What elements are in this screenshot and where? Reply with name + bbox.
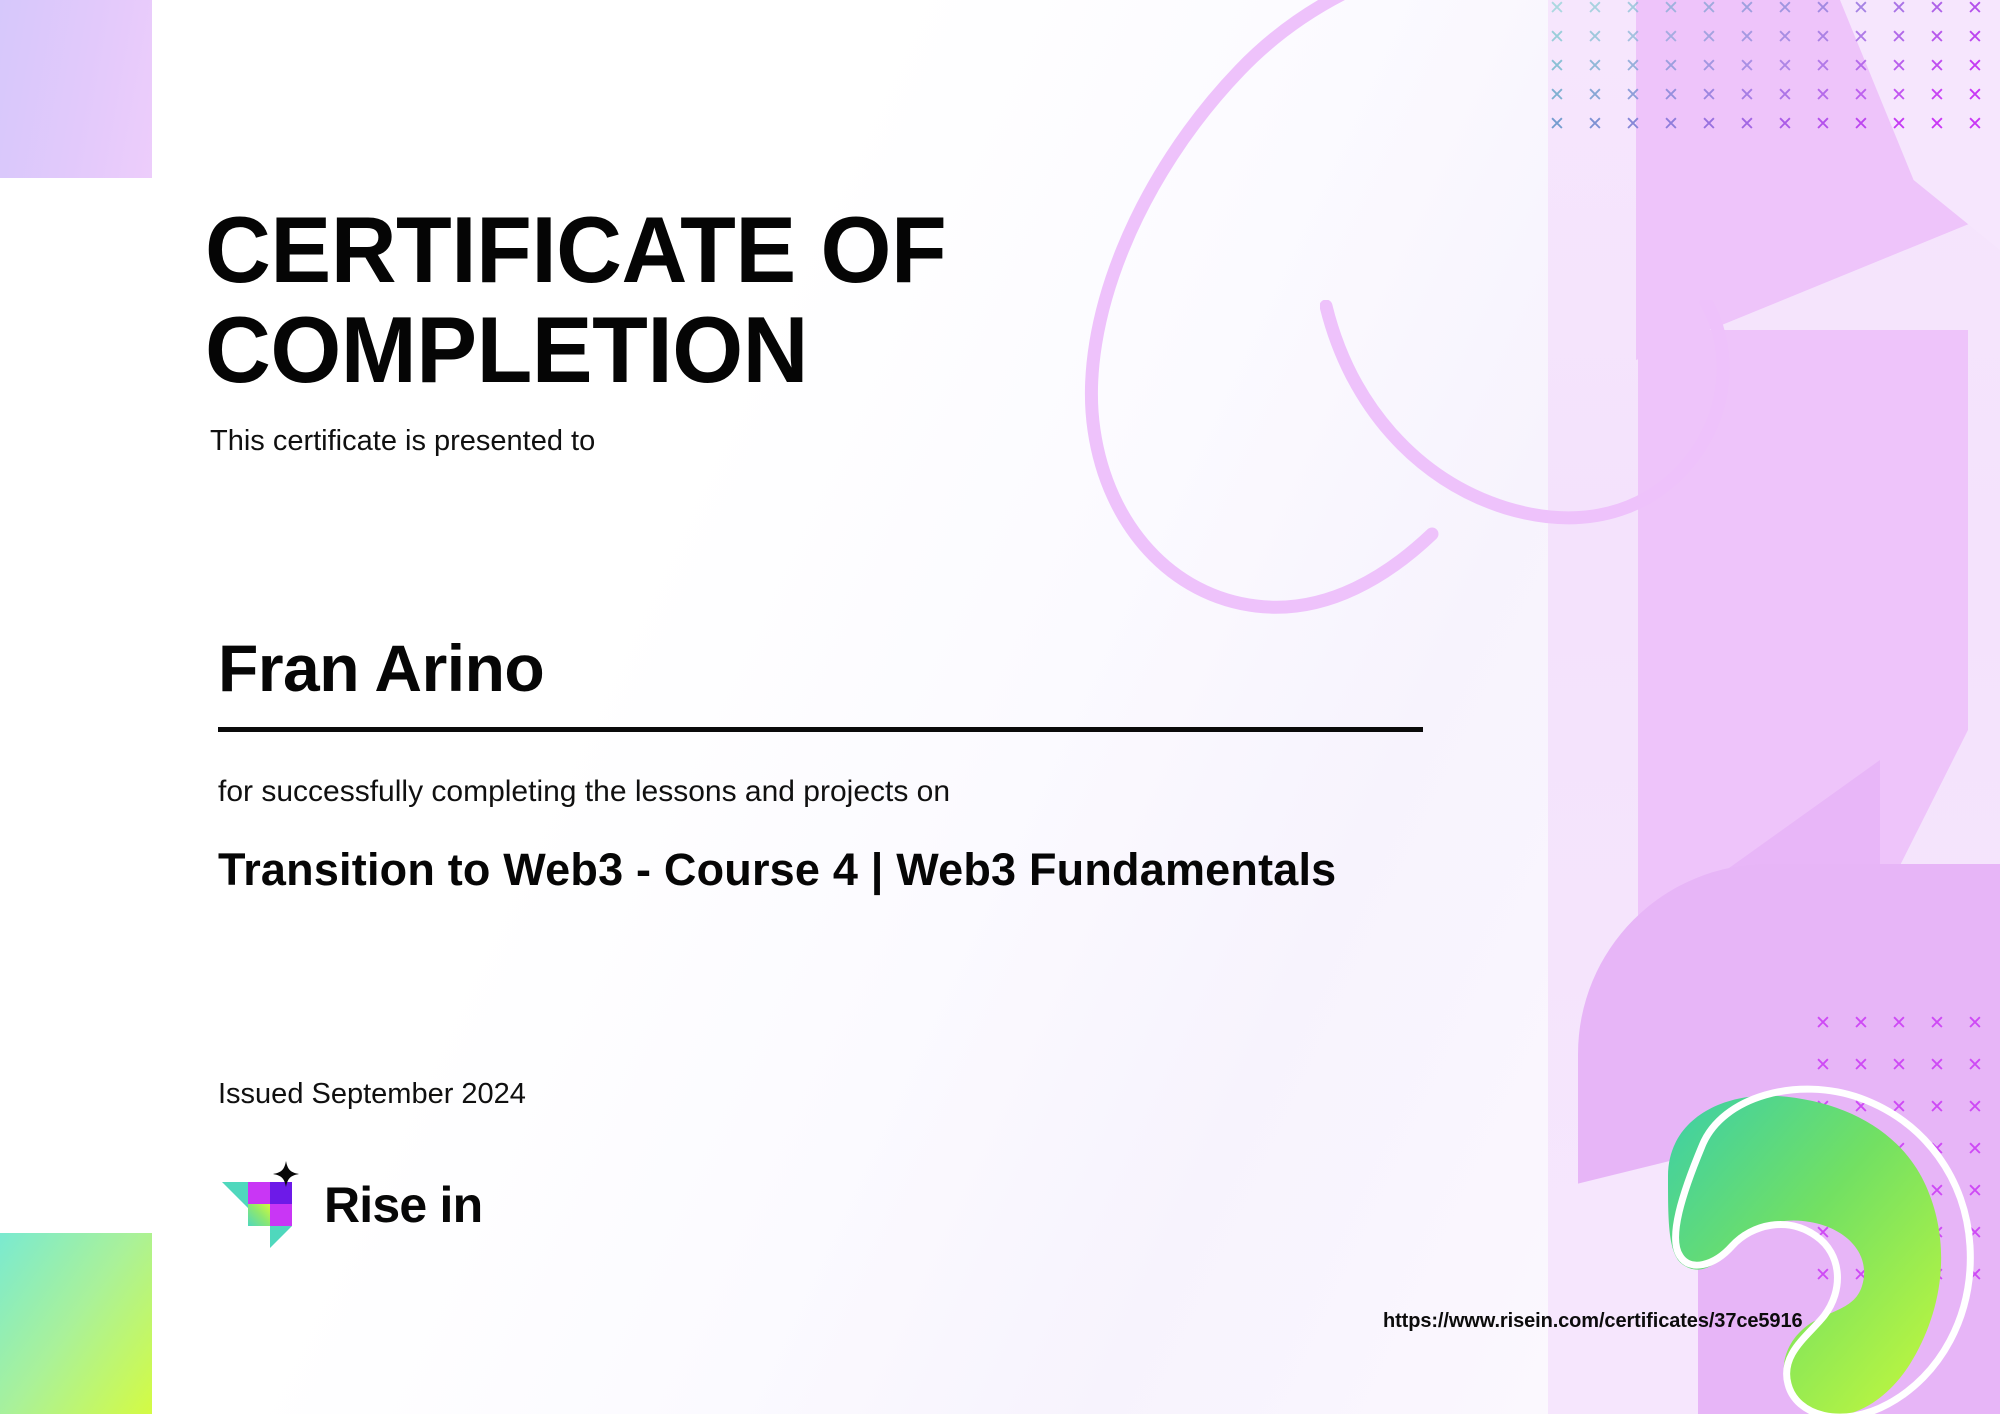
x-mark-icon: ✕ — [1804, 23, 1842, 52]
x-mark-icon: ✕ — [1918, 1044, 1956, 1086]
x-mark-icon: ✕ — [1918, 1170, 1956, 1212]
right-panel-shapes: ✕✕✕✕✕✕✕✕✕✕✕✕✕✕✕✕✕✕✕✕✕✕✕✕✕✕✕✕✕✕✕✕✕✕✕✕✕✕✕✕… — [1548, 0, 2000, 1414]
x-mark-icon: ✕ — [1766, 110, 1804, 139]
x-mark-icon: ✕ — [1918, 1254, 1956, 1296]
x-mark-icon: ✕ — [1880, 1212, 1918, 1254]
x-mark-icon: ✕ — [1956, 52, 1994, 81]
x-mark-icon: ✕ — [1918, 52, 1956, 81]
pale-wedge-shape — [1548, 1154, 1698, 1414]
x-mark-icon: ✕ — [1728, 52, 1766, 81]
x-mark-icon: ✕ — [1880, 110, 1918, 139]
x-mark-icon: ✕ — [1842, 1254, 1880, 1296]
certificate-content: CERTIFICATE OF COMPLETION This certifica… — [0, 0, 1400, 1414]
x-mark-icon: ✕ — [1728, 81, 1766, 110]
x-mark-icon: ✕ — [1918, 1212, 1956, 1254]
x-mark-icon: ✕ — [1842, 1086, 1880, 1128]
x-mark-icon: ✕ — [1880, 1086, 1918, 1128]
issued-date: Issued September 2024 — [218, 1078, 526, 1111]
page-title: CERTIFICATE OF COMPLETION — [205, 200, 1078, 399]
x-mark-icon: ✕ — [1652, 110, 1690, 139]
x-mark-icon: ✕ — [1548, 23, 1576, 52]
x-mark-icon: ✕ — [1880, 1044, 1918, 1086]
completion-label: for successfully completing the lessons … — [218, 775, 950, 809]
recipient-name: Fran Arino — [218, 630, 544, 706]
x-mark-icon: ✕ — [1766, 23, 1804, 52]
brand-logo-lockup: Rise in — [218, 1160, 482, 1250]
x-mark-icon: ✕ — [1728, 110, 1766, 139]
x-mark-icon: ✕ — [1804, 0, 1842, 23]
x-mark-icon: ✕ — [1880, 52, 1918, 81]
x-mark-icon: ✕ — [1956, 23, 1994, 52]
x-mark-icon: ✕ — [1842, 52, 1880, 81]
x-mark-icon: ✕ — [1804, 81, 1842, 110]
x-mark-icon: ✕ — [1576, 23, 1614, 52]
x-mark-icon: ✕ — [1690, 52, 1728, 81]
x-mark-icon: ✕ — [1804, 1254, 1842, 1296]
x-mark-icon: ✕ — [1842, 1002, 1880, 1044]
recipient-name-underline — [218, 727, 1423, 732]
x-mark-icon: ✕ — [1956, 1170, 1994, 1212]
x-mark-icon: ✕ — [1918, 1128, 1956, 1170]
brand-wordmark: Rise in — [324, 1176, 482, 1234]
x-mark-icon: ✕ — [1614, 0, 1652, 23]
x-mark-icon: ✕ — [1842, 0, 1880, 23]
x-mark-icon: ✕ — [1576, 81, 1614, 110]
x-mark-icon: ✕ — [1548, 110, 1576, 139]
x-mark-icon: ✕ — [1576, 110, 1614, 139]
x-mark-icon: ✕ — [1880, 23, 1918, 52]
x-mark-icon: ✕ — [1614, 52, 1652, 81]
right-decorative-panel: ✕✕✕✕✕✕✕✕✕✕✕✕✕✕✕✕✕✕✕✕✕✕✕✕✕✕✕✕✕✕✕✕✕✕✕✕✕✕✕✕… — [1548, 0, 2000, 1414]
magenta-ribbon-tail-shape — [1638, 730, 1968, 960]
x-mark-icon: ✕ — [1652, 0, 1690, 23]
x-mark-icon: ✕ — [1918, 23, 1956, 52]
x-mark-icon: ✕ — [1956, 1254, 1994, 1296]
x-mark-icon: ✕ — [1842, 110, 1880, 139]
x-mark-icon: ✕ — [1842, 1044, 1880, 1086]
x-mark-icon: ✕ — [1956, 1044, 1994, 1086]
x-mark-icon: ✕ — [1804, 1002, 1842, 1044]
magenta-ribbon-mid-shape — [1638, 330, 1968, 730]
x-mark-icon: ✕ — [1576, 52, 1614, 81]
x-mark-icon: ✕ — [1804, 1212, 1842, 1254]
x-mark-icon: ✕ — [1956, 110, 1994, 139]
x-mark-icon: ✕ — [1548, 0, 1576, 23]
x-mark-icon: ✕ — [1652, 52, 1690, 81]
x-mark-icon: ✕ — [1956, 81, 1994, 110]
x-mark-icon: ✕ — [1842, 1170, 1880, 1212]
x-mark-icon: ✕ — [1918, 1086, 1956, 1128]
x-mark-icon: ✕ — [1880, 0, 1918, 23]
x-mark-icon: ✕ — [1804, 110, 1842, 139]
x-mark-icon: ✕ — [1766, 81, 1804, 110]
x-grid-pattern-bottom: ✕✕✕✕✕✕✕✕✕✕✕✕✕✕✕✕✕✕✕✕✕✕✕✕✕✕✕✕✕✕✕✕✕✕✕ — [1804, 1002, 1994, 1296]
x-mark-icon: ✕ — [1804, 1086, 1842, 1128]
x-mark-icon: ✕ — [1614, 110, 1652, 139]
x-mark-icon: ✕ — [1918, 81, 1956, 110]
x-mark-icon: ✕ — [1918, 1002, 1956, 1044]
x-mark-icon: ✕ — [1766, 0, 1804, 23]
x-mark-icon: ✕ — [1728, 23, 1766, 52]
rise-in-logo-mark-icon — [218, 1160, 304, 1250]
x-mark-icon: ✕ — [1804, 1044, 1842, 1086]
pale-wedge-top-shape — [1840, 0, 2000, 250]
x-mark-icon: ✕ — [1766, 52, 1804, 81]
x-mark-icon: ✕ — [1842, 23, 1880, 52]
x-mark-icon: ✕ — [1690, 110, 1728, 139]
x-mark-icon: ✕ — [1956, 1086, 1994, 1128]
x-mark-icon: ✕ — [1880, 1170, 1918, 1212]
x-mark-icon: ✕ — [1690, 0, 1728, 23]
x-mark-icon: ✕ — [1880, 1128, 1918, 1170]
x-mark-icon: ✕ — [1548, 52, 1576, 81]
x-mark-icon: ✕ — [1956, 1002, 1994, 1044]
presented-to-label: This certificate is presented to — [210, 425, 595, 458]
x-mark-icon: ✕ — [1842, 1128, 1880, 1170]
x-mark-icon: ✕ — [1918, 110, 1956, 139]
x-mark-icon: ✕ — [1614, 81, 1652, 110]
x-grid-pattern-top: ✕✕✕✕✕✕✕✕✕✕✕✕✕✕✕✕✕✕✕✕✕✕✕✕✕✕✕✕✕✕✕✕✕✕✕✕✕✕✕✕… — [1548, 0, 1994, 139]
green-swirl-blob-icon — [1610, 1024, 2000, 1414]
magenta-ribbon-top-shape — [1636, 0, 2000, 360]
x-mark-icon: ✕ — [1880, 1254, 1918, 1296]
x-mark-icon: ✕ — [1576, 0, 1614, 23]
x-mark-icon: ✕ — [1880, 1002, 1918, 1044]
x-mark-icon: ✕ — [1690, 23, 1728, 52]
x-mark-icon: ✕ — [1548, 81, 1576, 110]
course-title: Transition to Web3 - Course 4 | Web3 Fun… — [218, 840, 1338, 900]
x-mark-icon: ✕ — [1956, 1212, 1994, 1254]
x-mark-icon: ✕ — [1804, 1170, 1842, 1212]
x-mark-icon: ✕ — [1804, 52, 1842, 81]
x-mark-icon: ✕ — [1690, 81, 1728, 110]
x-mark-icon: ✕ — [1842, 81, 1880, 110]
x-mark-icon: ✕ — [1956, 0, 1994, 23]
certificate-verification-url: https://www.risein.com/certificates/37ce… — [1383, 1310, 1803, 1333]
certificate-document: ✕✕✕✕✕✕✕✕✕✕✕✕✕✕✕✕✕✕✕✕✕✕✕✕✕✕✕✕✕✕✕✕✕✕✕✕✕✕✕✕… — [0, 0, 2000, 1414]
x-mark-icon: ✕ — [1880, 81, 1918, 110]
x-mark-icon: ✕ — [1804, 1128, 1842, 1170]
x-mark-icon: ✕ — [1956, 1128, 1994, 1170]
x-mark-icon: ✕ — [1728, 0, 1766, 23]
x-mark-icon: ✕ — [1652, 23, 1690, 52]
x-mark-icon: ✕ — [1918, 0, 1956, 23]
x-mark-icon: ✕ — [1614, 23, 1652, 52]
x-mark-icon: ✕ — [1652, 81, 1690, 110]
x-mark-icon: ✕ — [1842, 1212, 1880, 1254]
